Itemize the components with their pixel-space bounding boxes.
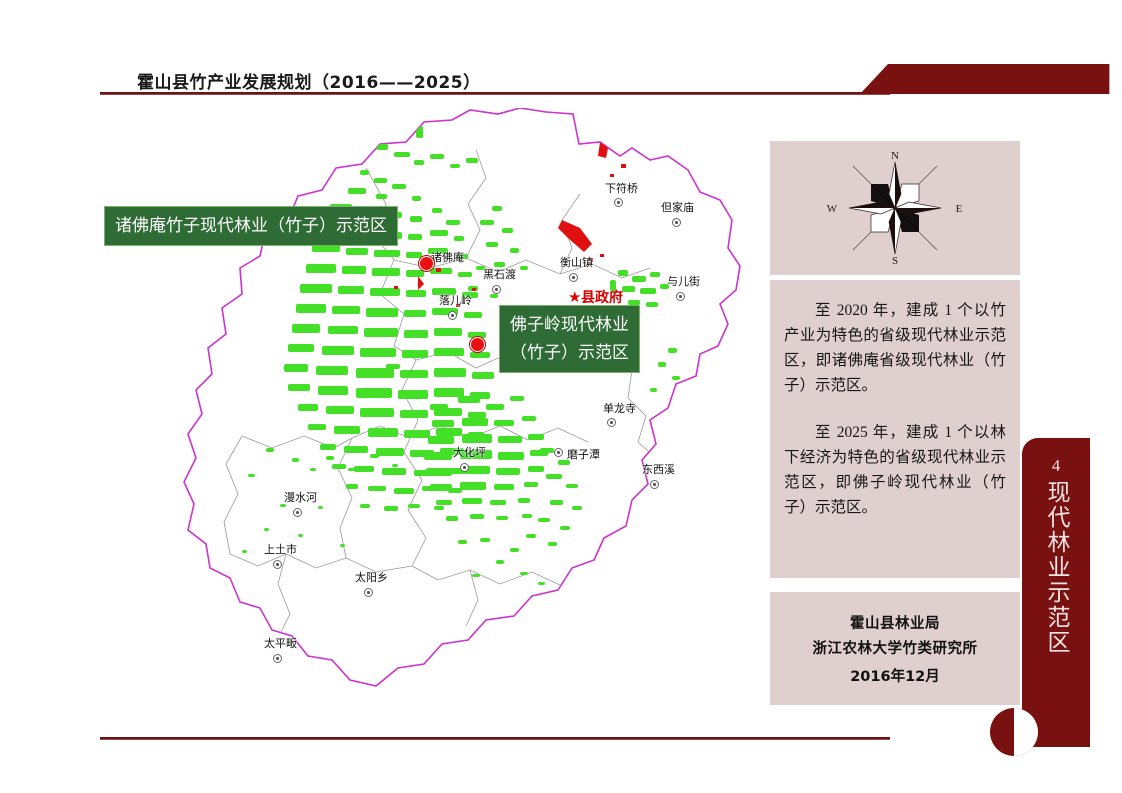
town-marker-dongxixi xyxy=(650,480,659,489)
map-vector-layer xyxy=(180,108,760,708)
town-marker-yuerjie xyxy=(676,292,685,301)
map-label-luoerling: 落儿岭 xyxy=(439,292,472,308)
map-label-manshuihe: 漫水河 xyxy=(284,489,317,505)
callout-zhufoan-demo-zone[interactable]: 诸佛庵竹子现代林业（竹子）示范区 xyxy=(104,206,398,246)
town-marker-danjiamiao xyxy=(672,218,681,227)
section-label: 现代林业示范区 xyxy=(1042,480,1070,655)
callout-fuziling-line-2: （竹子）示范区 xyxy=(510,339,629,367)
demo-zone-marker-fuziling[interactable] xyxy=(470,337,485,352)
government-star-icon: ★ xyxy=(568,290,581,305)
section-number: 4 xyxy=(1052,456,1061,476)
government-label: 县政府 xyxy=(581,287,623,307)
town-marker-xiafuqiao xyxy=(614,198,623,207)
compass-west-label: W xyxy=(827,203,838,215)
compass-north-label: N xyxy=(891,150,899,162)
description-panel: 至 2020 年，建成 1 个以竹产业为特色的省级现代林业示范区，即诸佛庵省级现… xyxy=(770,280,1020,578)
demo-zone-marker-zhufoan[interactable] xyxy=(419,256,434,271)
map-label-yuerjie: 与儿街 xyxy=(667,273,700,289)
organization-panel: 霍山县林业局 浙江农林大学竹类研究所 2016年12月 xyxy=(770,592,1020,705)
town-marker-shangtushi xyxy=(273,560,282,569)
slide-page: 霍山县竹产业发展规划（2016——2025） xyxy=(0,0,1122,793)
bamboo-distribution-map[interactable]: 下符桥 但家庙 衡山镇 与儿街 诸佛庵 黑石渡 落儿岭 单龙寺 大化坪 磨子潭 … xyxy=(180,108,760,708)
map-label-danjiamiao: 但家庙 xyxy=(661,199,694,215)
compass-south-label: S xyxy=(892,255,898,267)
map-label-danlongsi: 单龙寺 xyxy=(603,400,636,416)
callout-fuziling-demo-zone[interactable]: 佛子岭现代林业 （竹子）示范区 xyxy=(499,305,640,373)
compass-rose-icon: N E S W xyxy=(770,141,1020,275)
town-marker-danlongsi xyxy=(607,418,616,427)
map-label-taiyangxiang: 太阳乡 xyxy=(355,569,388,585)
town-marker-heishidu xyxy=(492,285,501,294)
map-label-mozitan: 磨子潭 xyxy=(567,446,600,462)
description-paragraph-2: 至 2025 年，建成 1 个以林下经济为特色的省级现代林业示范区，即佛子岭现代… xyxy=(770,420,1020,520)
org-date: 2016年12月 xyxy=(850,665,940,686)
footer-rule xyxy=(100,737,890,740)
header-wedge-decoration xyxy=(860,64,1110,94)
map-label-dongxixi: 东西溪 xyxy=(642,461,675,477)
town-marker-manshuihe xyxy=(293,508,302,517)
org-name-line-1: 霍山县林业局 xyxy=(850,612,940,633)
section-tab[interactable]: 4 现代林业示范区 xyxy=(1022,438,1090,710)
header-rule xyxy=(100,92,890,95)
description-paragraph-1: 至 2020 年，建成 1 个以竹产业为特色的省级现代林业示范区，即诸佛庵省级现… xyxy=(770,280,1020,398)
map-label-hengshanzhen: 衡山镇 xyxy=(560,254,593,270)
town-marker-luoerling xyxy=(448,311,457,320)
org-name-line-2: 浙江农林大学竹类研究所 xyxy=(813,637,978,658)
map-label-heishidu: 黑石渡 xyxy=(483,266,516,282)
town-marker-hengshanzhen xyxy=(569,273,578,282)
map-label-shangtushi: 上土市 xyxy=(264,541,297,557)
map-label-xiafuqiao: 下符桥 xyxy=(605,180,638,196)
page-title: 霍山县竹产业发展规划（2016——2025） xyxy=(137,68,481,93)
compass-east-label: E xyxy=(956,203,963,215)
town-marker-dahuaping xyxy=(460,463,469,472)
callout-fuziling-line-1: 佛子岭现代林业 xyxy=(510,311,629,339)
town-marker-taipingfan xyxy=(273,654,282,663)
map-label-taipingfan: 太平畈 xyxy=(264,635,297,651)
town-marker-taiyangxiang xyxy=(364,588,373,597)
compass-panel: N E S W xyxy=(770,141,1020,275)
town-marker-mozitan xyxy=(554,448,563,457)
map-label-dahuaping: 大化坪 xyxy=(453,444,486,460)
map-label-zhufoan: 诸佛庵 xyxy=(431,249,464,265)
